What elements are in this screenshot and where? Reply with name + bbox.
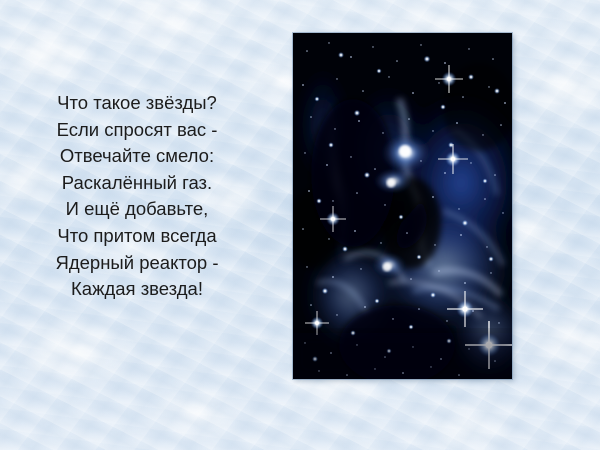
nebula-image-frame	[293, 33, 512, 379]
poem-line: Что такое звёзды?	[12, 90, 262, 117]
poem-line: Раскалённый газ.	[12, 170, 262, 197]
poem-line: И ещё добавьте,	[12, 196, 262, 223]
poem-line: Каждая звезда!	[12, 276, 262, 303]
poem-line: Отвечайте смело:	[12, 143, 262, 170]
poem-line: Что притом всегда	[12, 223, 262, 250]
poem-text-block: Что такое звёзды? Если спросят вас - Отв…	[12, 90, 262, 303]
nebula-star-cluster-photo	[293, 33, 512, 379]
poem-line: Если спросят вас -	[12, 117, 262, 144]
poem-line: Ядерный реактор -	[12, 250, 262, 277]
presentation-slide: Что такое звёзды? Если спросят вас - Отв…	[0, 0, 600, 450]
